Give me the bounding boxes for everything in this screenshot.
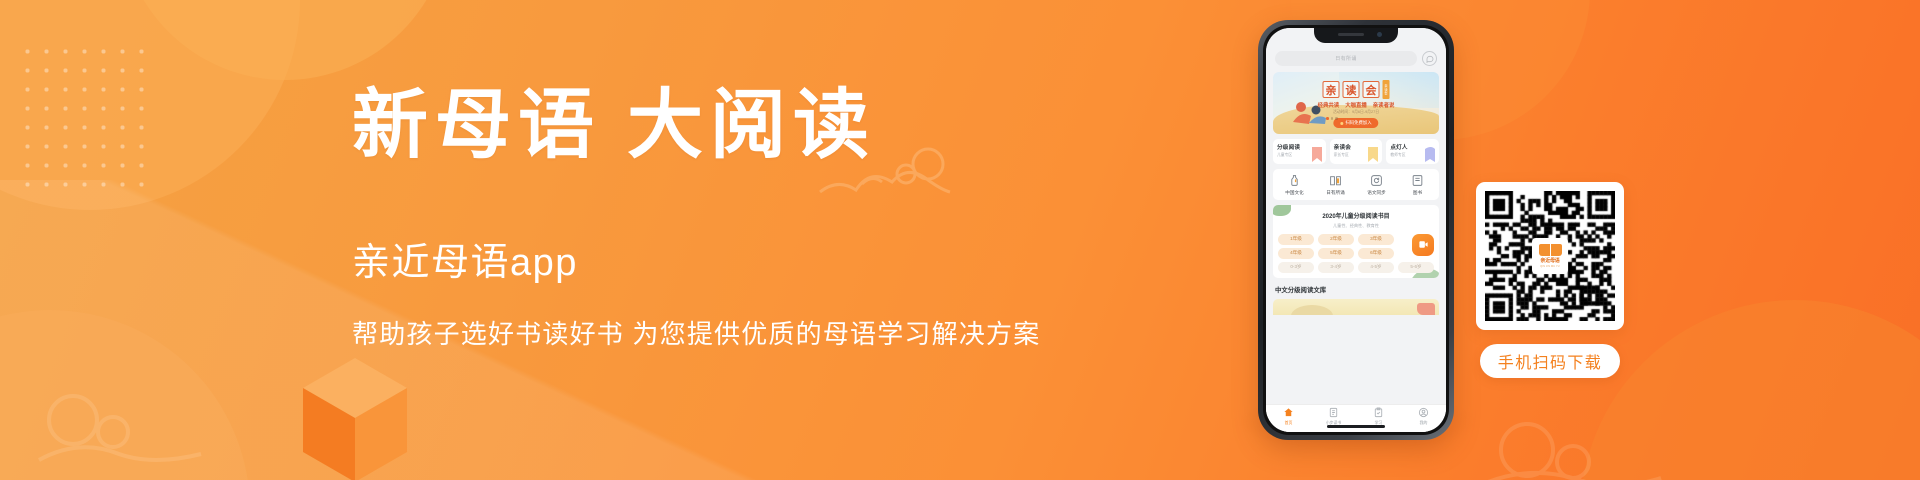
hero-char-1: 读: [1343, 81, 1360, 98]
logo-name-en: QIN JIN MU YU: [1540, 265, 1559, 268]
search-input[interactable]: 日有所诵: [1275, 51, 1417, 66]
tab-label: 我的: [1420, 420, 1428, 426]
grade-pill[interactable]: 4年级: [1278, 248, 1314, 259]
age-pill[interactable]: 3-4岁: [1318, 262, 1354, 273]
hero-subtitle-0: 经典共读: [1318, 101, 1340, 109]
phone-bezel: 日有所诵: [1263, 25, 1449, 435]
age-pill[interactable]: 5-6岁: [1398, 262, 1434, 273]
library-red-decor: [1417, 303, 1435, 315]
age-pill[interactable]: 4-5岁: [1358, 262, 1394, 273]
carousel-dots[interactable]: [1326, 117, 1338, 120]
grade-pill[interactable]: 1年级: [1278, 234, 1314, 245]
grade-row: 4年级 5年级 6年级: [1278, 248, 1434, 259]
vase-icon: [1288, 174, 1301, 187]
bookmark-purple-icon: [1423, 146, 1437, 163]
tab-profile[interactable]: 我的: [1401, 407, 1446, 426]
phone-home-indicator: [1327, 425, 1385, 428]
dot-grid-icon: [18, 42, 154, 192]
booklist-subtitle: 儿童性、经典性、教育性: [1278, 223, 1434, 229]
hero-cta-dot: [1340, 122, 1343, 125]
hero-char-0: 亲: [1323, 81, 1340, 98]
category-card-parent-club[interactable]: 亲读会 家长专区: [1330, 139, 1383, 164]
list-icon: [1328, 407, 1339, 418]
library-title: 中文分级阅读文库: [1273, 283, 1439, 294]
tab-label: 首页: [1285, 420, 1293, 426]
download-button-label: 手机扫码下载: [1498, 349, 1602, 373]
book-open-icon: [1329, 174, 1342, 187]
decor-blob-top-left: [0, 0, 300, 210]
video-play-icon[interactable]: [1412, 234, 1434, 256]
page-title: 新母语 大阅读: [352, 84, 1052, 169]
library-arc-decor: [1291, 305, 1333, 315]
bookmark-yellow-icon: [1366, 146, 1380, 163]
hero-date: 活动时间：9月6日-9月27日: [1333, 110, 1379, 115]
checklist-icon: [1373, 407, 1384, 418]
user-icon: [1418, 407, 1429, 418]
promo-banner: 新母语 大阅读 亲近母语app 帮助孩子选好书读好书 为您提供优质的母语学习解决…: [0, 0, 1920, 480]
isometric-cube-icon: [295, 350, 415, 480]
logo-books-icon: [1539, 244, 1562, 256]
decor-blob-bottom-left: [0, 310, 250, 480]
category-card-teacher[interactable]: 点灯人 教师专区: [1386, 139, 1439, 164]
app-screen: 日有所诵: [1266, 28, 1446, 432]
booklist-card: 2020年儿童分级阅读书目 儿童性、经典性、教育性 1年级 2年级 3年级: [1273, 205, 1439, 278]
booklist-grid: 1年级 2年级 3年级 4年级 5年级 6年级: [1278, 234, 1434, 273]
tab-home[interactable]: 首页: [1266, 407, 1311, 426]
phone-mockup: 日有所诵: [1258, 20, 1454, 440]
quick-nav-label: 中国文化: [1285, 190, 1303, 196]
hero-subtitle-2: 亲读者说: [1373, 101, 1395, 109]
grade-pill[interactable]: 2年级: [1318, 234, 1354, 245]
message-icon[interactable]: [1422, 51, 1437, 66]
banner-tagline: 帮助孩子选好书读好书 为您提供优质的母语学习解决方案: [352, 314, 1052, 351]
qr-center-logo: 亲近母语 QIN JIN MU YU: [1532, 238, 1568, 274]
hero-side-tag: 亲读会: [1383, 80, 1390, 99]
logo-name: 亲近母语: [1540, 257, 1559, 264]
cloud-motif-icon: [35, 380, 205, 470]
quick-nav-label: 日有所诵: [1326, 190, 1344, 196]
hero-cta-label: 扫码免费加入: [1345, 120, 1371, 126]
refresh-square-icon: [1370, 174, 1383, 187]
qr-code[interactable]: 亲近母语 QIN JIN MU YU: [1476, 182, 1624, 330]
app-name-subtitle: 亲近母语app: [352, 231, 1052, 286]
hero-cta-button[interactable]: 扫码免费加入: [1333, 118, 1378, 128]
home-icon: [1283, 407, 1294, 418]
quick-nav-chinese-culture[interactable]: 中国文化: [1274, 174, 1315, 196]
hero-char-2: 会: [1363, 81, 1380, 98]
booklist-title: 2020年儿童分级阅读书目: [1278, 211, 1434, 220]
decor-blob-bottom-right: [1580, 300, 1920, 480]
book-icon: [1411, 174, 1424, 187]
tab-reading[interactable]: 小步读书: [1311, 407, 1356, 426]
age-pill[interactable]: 0-3岁: [1278, 262, 1314, 273]
quick-nav-books[interactable]: 图书: [1397, 174, 1438, 196]
app-search-row: 日有所诵: [1273, 48, 1439, 67]
bookmark-red-icon: [1310, 146, 1324, 163]
quick-nav-icons: 中国文化 日有所诵: [1273, 169, 1439, 200]
phone-frame: 日有所诵: [1258, 20, 1454, 440]
grade-row: 1年级 2年级 3年级: [1278, 234, 1434, 245]
age-row: 0-3岁 3-4岁 4-5岁 5-6岁: [1278, 262, 1434, 273]
hero-title: 亲 读 会 亲读会: [1323, 80, 1390, 99]
category-card-graded-reading[interactable]: 分级阅读 儿童专区: [1273, 139, 1326, 164]
hero-subtitle-1: 大咖直播: [1345, 101, 1367, 109]
quick-nav-label: 语文同步: [1367, 190, 1385, 196]
quick-nav-textbook-sync[interactable]: 语文同步: [1356, 174, 1397, 196]
tab-study[interactable]: 学习: [1356, 407, 1401, 426]
hero-subtitles: 经典共读 大咖直播 亲读者说: [1318, 101, 1395, 109]
category-cards: 分级阅读 儿童专区 亲读会 家长专区: [1273, 139, 1439, 164]
phone-notch: [1314, 28, 1398, 43]
grade-pill[interactable]: 5年级: [1318, 248, 1354, 259]
cloud-motif-icon: [1475, 406, 1665, 480]
app-hero-banner[interactable]: 亲 读 会 亲读会 经典共读 大咖直播 亲读者说 活动时间：9月6日-9月27日: [1273, 72, 1439, 134]
download-block: 亲近母语 QIN JIN MU YU 手机扫码下载: [1476, 182, 1624, 378]
grade-pill[interactable]: 6年级: [1358, 248, 1394, 259]
phone-screen: 日有所诵: [1266, 28, 1446, 432]
decor-blob-top-left-2: [120, 0, 450, 80]
quick-nav-label: 图书: [1413, 190, 1422, 196]
search-placeholder: 日有所诵: [1335, 55, 1357, 62]
quick-nav-daily-recitation[interactable]: 日有所诵: [1315, 174, 1356, 196]
download-button[interactable]: 手机扫码下载: [1480, 344, 1620, 378]
grade-pill[interactable]: 3年级: [1358, 234, 1394, 245]
banner-copy: 新母语 大阅读 亲近母语app 帮助孩子选好书读好书 为您提供优质的母语学习解决…: [352, 84, 1052, 351]
library-card[interactable]: [1273, 299, 1439, 315]
